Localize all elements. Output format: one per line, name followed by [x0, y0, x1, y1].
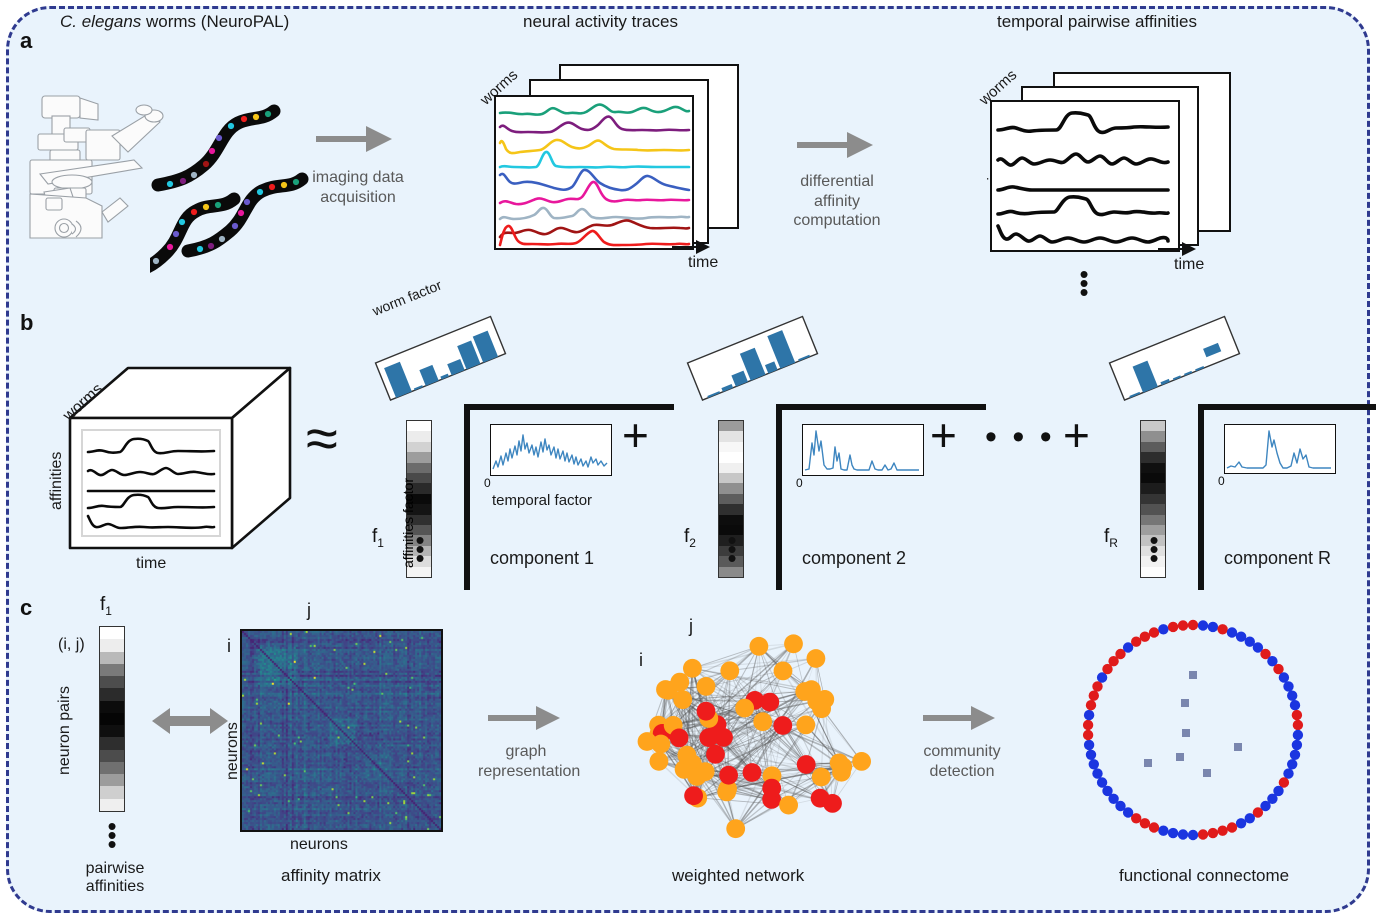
traces-card-front — [494, 95, 694, 250]
component-1-group: worm factor affinities factor f1 ••• 0 t… — [372, 300, 608, 590]
arrow-c1-line1: graph — [478, 742, 574, 762]
network-node — [753, 712, 772, 731]
component-R-factor-symbol: fR — [1104, 526, 1118, 550]
connectome-node — [1188, 830, 1198, 840]
arrow-imaging-acquisition-label: imaging data acquisition — [310, 168, 406, 207]
affinity-tensor-cube — [66, 352, 296, 552]
connectome-node — [1198, 829, 1208, 839]
network-node — [797, 755, 816, 774]
connectome-node — [1293, 730, 1303, 740]
gray-cell — [1141, 504, 1165, 514]
gray-cell — [719, 463, 743, 473]
connectome-node — [1287, 759, 1297, 769]
gray-cell — [100, 652, 124, 664]
component-1-name: component 1 — [490, 548, 594, 569]
network-node — [638, 732, 657, 751]
network-node — [796, 716, 815, 735]
gray-cell — [719, 494, 743, 504]
panel-a-title-worms: C. elegans worms (NeuroPAL) — [60, 12, 289, 32]
network-node — [823, 794, 842, 813]
affinities-stack-ellipsis: ••• — [1074, 270, 1094, 297]
connectome-node — [1092, 681, 1102, 691]
component-2-temporal-zero-tick: 0 — [796, 476, 803, 490]
gray-cell — [719, 442, 743, 452]
connectome-node — [1086, 750, 1096, 760]
connectome-node — [1089, 691, 1099, 701]
arrow-graph-representation-icon — [486, 700, 564, 736]
functional-connectome-graph — [1060, 605, 1326, 855]
arrow-community-detection-icon — [921, 700, 999, 736]
connectome-node — [1092, 768, 1102, 778]
gray-cell — [1141, 515, 1165, 525]
c1-temporal-svg — [491, 425, 610, 474]
affinity-matrix-canvas — [242, 631, 441, 830]
network-node — [697, 702, 716, 721]
arrow-a2-line1: differential — [785, 172, 889, 192]
component-R-temporal-factor-chart — [1224, 424, 1336, 474]
gray-cell — [100, 676, 124, 688]
connectome-node — [1097, 777, 1107, 787]
gray-cell — [719, 483, 743, 493]
connectome-node — [1198, 620, 1208, 630]
network-node — [684, 786, 703, 805]
gray-cell — [100, 762, 124, 774]
connectome-node — [1283, 681, 1293, 691]
connectome-node — [1283, 768, 1293, 778]
functional-connectome-caption: functional connectome — [1119, 866, 1289, 886]
gray-cell — [719, 473, 743, 483]
neural-activity-traces-chart — [496, 97, 693, 249]
network-node — [760, 693, 779, 712]
gray-cell — [100, 688, 124, 700]
network-node — [726, 819, 745, 838]
arrow-imaging-acquisition-icon — [314, 118, 396, 160]
network-node — [706, 745, 725, 764]
gray-cell — [1141, 442, 1165, 452]
network-node — [650, 752, 669, 771]
arrow-c1-line2: representation — [478, 762, 574, 782]
connectome-node — [1086, 700, 1096, 710]
component-1-temporal-factor-label: temporal factor — [492, 492, 592, 509]
connectome-node — [1178, 620, 1188, 630]
connectome-node — [1131, 637, 1141, 647]
pairwise-index-label: (i, j) — [58, 636, 85, 654]
network-node — [807, 649, 826, 668]
gray-cell — [407, 421, 431, 431]
connectome-node — [1287, 691, 1297, 701]
component-2-group: f2 ••• 0 component 2 — [684, 300, 920, 590]
plus-symbol-3: + — [1063, 412, 1090, 458]
gray-cell — [1141, 473, 1165, 483]
arrow-a2-line2: affinity — [785, 192, 889, 212]
component-1-temporal-zero-tick: 0 — [484, 476, 491, 490]
gray-cell — [100, 664, 124, 676]
cR-temporal-svg — [1225, 425, 1334, 472]
c2-f-sub: 2 — [689, 536, 696, 550]
gray-cell — [100, 750, 124, 762]
panel-label-a: a — [20, 28, 32, 54]
connectome-node — [1084, 740, 1094, 750]
network-node — [832, 763, 851, 782]
connectome-node — [1279, 672, 1289, 682]
components-ellipsis: • • • — [985, 420, 1055, 454]
network-node — [773, 716, 792, 735]
component-1-column-ellipsis: ••• — [412, 536, 428, 563]
network-node — [720, 661, 739, 680]
connectome-node — [1140, 818, 1150, 828]
connectome-node — [1188, 620, 1198, 630]
gray-cell — [407, 463, 431, 473]
connectome-node — [1089, 759, 1099, 769]
traces-time-label: time — [688, 254, 718, 272]
component-2-name: component 2 — [802, 548, 906, 569]
gray-cell — [100, 627, 124, 639]
connectome-node — [1140, 632, 1150, 642]
temporal-pairwise-affinities-chart — [992, 102, 1179, 251]
component-2-factor-symbol: f2 — [684, 526, 696, 550]
component-R-group: fR ••• 0 component R — [1106, 300, 1342, 590]
connectome-node — [1208, 828, 1218, 838]
figure-root: a C. elegans worms (NeuroPAL) neural act… — [0, 0, 1376, 919]
network-node — [750, 637, 769, 656]
worms-title-rest: worms (NeuroPAL) — [141, 12, 289, 31]
weighted-network-caption: weighted network — [672, 866, 804, 886]
network-node — [719, 766, 738, 785]
network-node — [779, 796, 798, 815]
connectome-node — [1217, 826, 1227, 836]
connectome-node — [1293, 720, 1303, 730]
pairwise-caption: pairwise affinities — [65, 860, 165, 896]
gray-cell — [1141, 452, 1165, 462]
gray-cell — [1141, 483, 1165, 493]
network-node — [743, 763, 762, 782]
component-1-temporal-factor-chart — [490, 424, 612, 476]
gray-cell — [100, 725, 124, 737]
gray-cell — [100, 799, 124, 811]
affinity-matrix-heatmap — [240, 629, 443, 832]
gray-cell — [100, 737, 124, 749]
connectome-hub-node — [1234, 743, 1242, 751]
network-node — [696, 762, 715, 781]
network-node — [784, 634, 803, 653]
gray-cell — [719, 421, 743, 431]
gray-cell — [1141, 463, 1165, 473]
connectome-hub-node — [1182, 729, 1190, 737]
connectome-node — [1227, 822, 1237, 832]
gray-cell — [407, 452, 431, 462]
gray-cell — [719, 515, 743, 525]
c2-temporal-svg — [803, 425, 922, 474]
gray-cell — [407, 431, 431, 441]
panel-label-c: c — [20, 595, 32, 621]
connectome-node — [1290, 700, 1300, 710]
pairwise-caption-line1: pairwise — [65, 860, 165, 878]
component-R-vertical-axis — [1198, 404, 1204, 590]
arrow-graph-representation-label: graph representation — [478, 742, 574, 781]
connectome-node — [1178, 829, 1188, 839]
double-arrow-icon — [150, 700, 230, 742]
connectome-node — [1245, 813, 1255, 823]
network-node — [697, 677, 716, 696]
arrow-community-detection-label: community detection — [912, 742, 1012, 781]
arrow-a1-line1: imaging data — [310, 168, 406, 188]
panel-a-title-traces: neural activity traces — [523, 12, 678, 32]
arrow-c2-line2: detection — [912, 762, 1012, 782]
connectome-node — [1084, 710, 1094, 720]
connectome-node — [1236, 632, 1246, 642]
c1-f-sub: 1 — [377, 536, 384, 550]
matrix-index-j: j — [307, 600, 311, 621]
plus-symbol-1: + — [622, 412, 649, 458]
pairwise-affinities-column — [99, 626, 125, 812]
gray-cell — [719, 431, 743, 441]
component-1-factor-symbol: f1 — [372, 526, 384, 550]
pairwise-neuronpairs-axis-label: neuron pairs — [56, 686, 74, 775]
connectome-node — [1168, 828, 1178, 838]
network-node — [714, 728, 733, 747]
connectome-hub-node — [1181, 699, 1189, 707]
panel-label-b: b — [20, 310, 33, 336]
arrow-a1-line2: acquisition — [310, 188, 406, 208]
connectome-node — [1168, 622, 1178, 632]
gray-cell — [100, 713, 124, 725]
gray-cell — [1141, 431, 1165, 441]
network-node — [678, 746, 697, 765]
connectome-node — [1292, 710, 1302, 720]
connectome-hub-node — [1144, 759, 1152, 767]
component-2-temporal-factor-chart — [802, 424, 924, 476]
connectome-node — [1290, 750, 1300, 760]
network-node — [807, 692, 826, 711]
network-node — [683, 659, 702, 678]
component-R-temporal-zero-tick: 0 — [1218, 474, 1225, 488]
connectome-node — [1149, 627, 1159, 637]
tensor-affinities-axis-label: affinities — [48, 452, 66, 510]
connectome-node — [1217, 624, 1227, 634]
component-R-name: component R — [1224, 548, 1331, 569]
component-1-vertical-axis — [464, 404, 470, 590]
tensor-time-axis-label: time — [136, 555, 166, 573]
approx-symbol: ≈ — [306, 410, 338, 468]
arrow-c2-line1: community — [912, 742, 1012, 762]
affinity-matrix-caption: affinity matrix — [281, 866, 381, 886]
arrow-affinity-computation-icon — [795, 124, 877, 166]
connectome-hub-node — [1203, 769, 1211, 777]
matrix-index-i: i — [227, 636, 231, 657]
connectome-node — [1208, 622, 1218, 632]
panel-a-title-affinities: temporal pairwise affinities — [997, 12, 1197, 32]
connectome-node — [1083, 730, 1093, 740]
network-node — [735, 699, 754, 718]
network-node — [852, 752, 871, 771]
pairwise-caption-line2: affinities — [65, 878, 165, 896]
component-2-column-ellipsis: ••• — [724, 536, 740, 563]
plus-symbol-2: + — [930, 412, 957, 458]
component-R-column-ellipsis: ••• — [1146, 536, 1162, 563]
gray-cell — [407, 442, 431, 452]
network-node — [812, 768, 831, 787]
connectome-hub-node — [1176, 753, 1184, 761]
connectome-node — [1083, 720, 1093, 730]
connectome-node — [1158, 624, 1168, 634]
arrow-a2-line3: computation — [785, 211, 889, 231]
cR-f-sub: R — [1109, 536, 1118, 550]
gray-cell — [100, 701, 124, 713]
weighted-network-graph — [608, 622, 908, 852]
component-R-worm-factor-chart — [1106, 300, 1246, 420]
network-node — [774, 662, 793, 681]
worms-title-italic: C. elegans — [60, 12, 141, 31]
gray-cell — [100, 639, 124, 651]
gray-cell — [1141, 421, 1165, 431]
network-node — [673, 690, 692, 709]
component-2-worm-factor-chart — [684, 300, 824, 420]
affinities-time-label: time — [1174, 256, 1204, 274]
component-1-worm-factor-chart — [372, 300, 512, 420]
network-node — [762, 779, 781, 798]
affinities-card-front — [990, 100, 1180, 252]
component-R-horizontal-axis — [1198, 404, 1376, 410]
gray-cell — [1141, 494, 1165, 504]
connectome-hub-node — [1189, 671, 1197, 679]
pairwise-column-ellipsis: ••• — [104, 822, 120, 849]
gray-cell — [100, 774, 124, 786]
connectome-node — [1236, 818, 1246, 828]
connectome-node — [1292, 740, 1302, 750]
arrow-affinity-computation-label: differential affinity computation — [785, 172, 889, 231]
connectome-node — [1227, 627, 1237, 637]
network-node — [670, 729, 689, 748]
pairwise-factor-symbol: f1 — [100, 594, 112, 618]
gray-cell — [100, 786, 124, 798]
gray-cell — [719, 452, 743, 462]
pairwise-f-sub: 1 — [105, 604, 112, 618]
connectome-node — [1149, 822, 1159, 832]
component-2-vertical-axis — [776, 404, 782, 590]
gray-cell — [719, 504, 743, 514]
matrix-neurons-axis-x: neurons — [290, 836, 348, 854]
connectome-node — [1158, 826, 1168, 836]
